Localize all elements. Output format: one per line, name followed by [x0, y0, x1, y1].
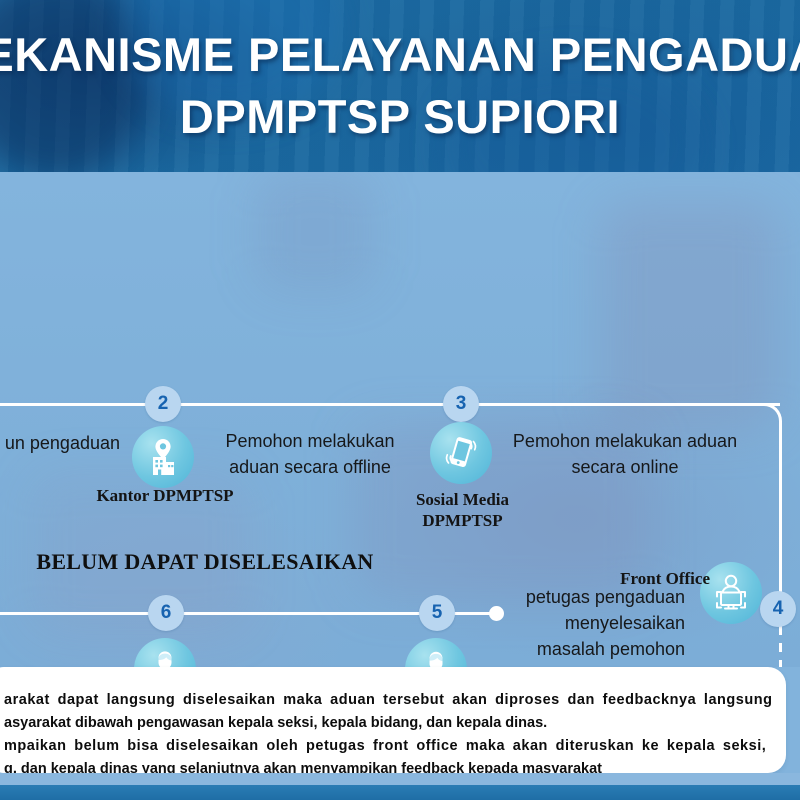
poster-title-line-1: MEKANISME PELAYANAN PENGADUAN — [0, 27, 800, 83]
infographic-poster: MEKANISME PELAYANAN PENGADUAN DPMPTSP SU… — [0, 0, 800, 800]
step-description-4: petugas pengaduan menyelesaikan masalah … — [495, 584, 685, 662]
step-description-1-clipped: un pengaduan — [0, 430, 120, 456]
step-badge-5[interactable]: 5 — [419, 595, 455, 631]
poster-title-line-2: DPMPTSP SUPIORI — [180, 89, 620, 145]
step-title-3: Sosial Media DPMPTSP — [375, 489, 550, 531]
branch-label-unresolved: BELUM DAPAT DISELESAIKAN — [30, 549, 380, 575]
note-line-4: g, dan kepala dinas yang selanjutnya aka… — [4, 758, 770, 773]
poster-footer-bar — [0, 785, 800, 800]
office-building-location-icon — [132, 426, 194, 488]
step-description-2: Pemohon melakukan aduan secara offline — [205, 428, 415, 480]
panel-blur-shape — [255, 172, 375, 292]
official-at-desk-icon — [134, 638, 196, 667]
title-block: MEKANISME PELAYANAN PENGADUAN DPMPTSP SU… — [0, 0, 800, 172]
flow-diagram-panel: 2 Kantor DPMPTSP Pemohon melakukan ad — [0, 172, 800, 667]
panel-blur-shape — [600, 202, 780, 432]
step-badge-3[interactable]: 3 — [443, 386, 479, 422]
step-title-2: Kantor DPMPTSP — [40, 485, 290, 506]
explanatory-note-box: arakat dapat langsung diselesaikan maka … — [0, 667, 786, 773]
step-description-3: Pemohon melakukan aduan secara online — [495, 428, 755, 480]
step-badge-6[interactable]: 6 — [148, 595, 184, 631]
mobile-phone-icon — [430, 422, 492, 484]
note-line-3: mpaikan belum bisa diselesaikan oleh pet… — [4, 735, 770, 758]
flow-line-top — [0, 403, 780, 406]
note-line-1: arakat dapat langsung diselesaikan maka … — [4, 689, 770, 712]
poster-header: MEKANISME PELAYANAN PENGADUAN DPMPTSP SU… — [0, 0, 800, 172]
flow-line-right-solid — [779, 434, 782, 609]
note-line-2: asyarakat dibawah pengawasan kepala seks… — [4, 712, 770, 735]
footer-gap — [0, 773, 800, 785]
step-badge-4[interactable]: 4 — [760, 591, 796, 627]
officer-person-icon — [405, 638, 467, 667]
step-badge-2[interactable]: 2 — [145, 386, 181, 422]
